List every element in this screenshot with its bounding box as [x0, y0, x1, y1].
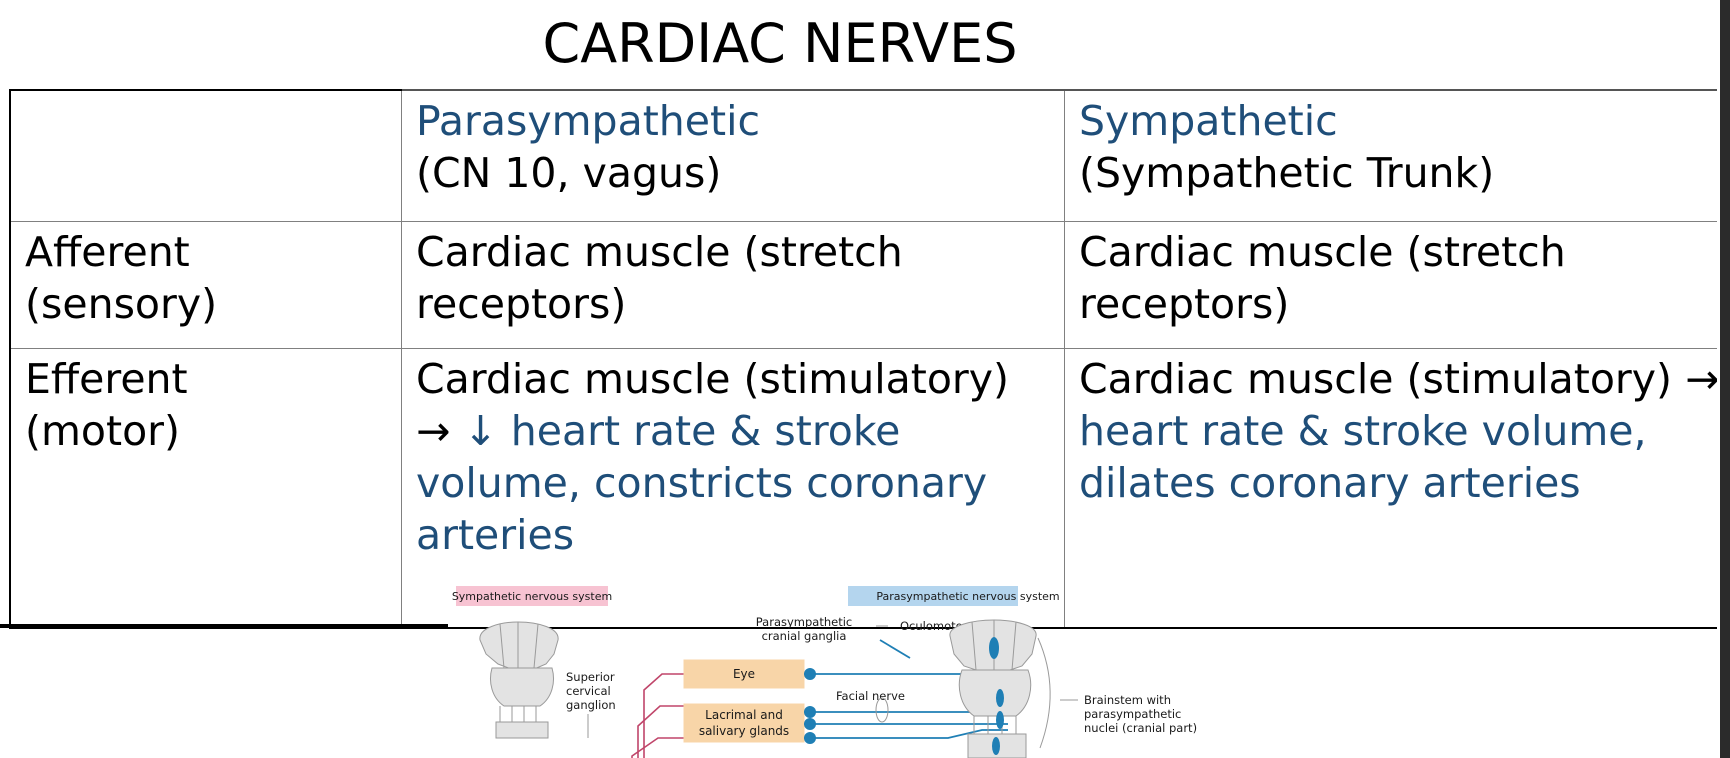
- bracket-brainstem: [1038, 638, 1050, 748]
- header-cell-parasympathetic: Parasympathetic (CN 10, vagus): [402, 90, 1065, 222]
- label-brainstem-line1: Brainstem with: [1084, 693, 1171, 707]
- label-superior-cervical-ganglion-line3: ganglion: [566, 698, 616, 712]
- header-cell-sympathetic: Sympathetic (Sympathetic Trunk): [1065, 90, 1730, 222]
- label-facial-nerve: Facial nerve: [836, 689, 905, 703]
- slide-edge-band: [1720, 0, 1730, 758]
- row-label-afferent: Afferent (sensory): [10, 222, 402, 349]
- cardiac-nerves-table: Parasympathetic (CN 10, vagus) Sympathet…: [9, 89, 1730, 629]
- efferent-para-blue-text: ↓ heart rate & stroke volume, constricts…: [416, 407, 987, 559]
- efferent-symp-black-text: Cardiac muscle (stimulatory): [1079, 355, 1685, 403]
- sympathetic-subheading: (Sympathetic Trunk): [1079, 147, 1730, 199]
- label-parasympathetic-cranial-ganglia-line2: cranial ganglia: [762, 629, 847, 643]
- right-arrow-icon: →: [1685, 355, 1719, 403]
- label-superior-cervical-ganglion-line2: cervical: [566, 684, 611, 698]
- label-parasympathetic-cranial-ganglia-line1: Parasympathetic: [756, 615, 853, 629]
- sympathetic-nerve-lines: [632, 674, 684, 758]
- legend-label-parasympathetic: Parasympathetic nervous system: [876, 590, 1059, 603]
- afferent-label-line1: Afferent: [25, 226, 391, 278]
- parasympathetic-ganglion-dots: [804, 668, 816, 744]
- header-cell-empty: [10, 90, 402, 222]
- sympathetic-heading: Sympathetic: [1079, 95, 1730, 147]
- afferent-label-line2: (sensory): [25, 278, 391, 330]
- autonomic-nervous-system-diagram: Sympathetic nervous system Parasympathet…: [448, 578, 1258, 758]
- organ-label-lacrimal-line2: salivary glands: [699, 724, 789, 738]
- row-label-efferent: Efferent (motor): [10, 349, 402, 629]
- sympathetic-brain-outline: [480, 622, 558, 738]
- right-arrow-icon: →: [416, 407, 450, 455]
- label-brainstem-line3: nuclei (cranial part): [1084, 721, 1197, 735]
- parasympathetic-subheading: (CN 10, vagus): [416, 147, 1054, 199]
- organ-label-eye: Eye: [733, 667, 755, 681]
- label-superior-cervical-ganglion-line1: Superior: [566, 670, 615, 684]
- efferent-para-black-text: Cardiac muscle (stimulatory): [416, 355, 1009, 403]
- cell-afferent-sympathetic: Cardiac muscle (stretch receptors): [1065, 222, 1730, 349]
- label-brainstem-line2: parasympathetic: [1084, 707, 1181, 721]
- efferent-label-line1: Efferent: [25, 353, 391, 405]
- page-title: CARDIAC NERVES: [0, 14, 1560, 74]
- slide-canvas: CARDIAC NERVES Parasympathetic (CN 10, v…: [0, 0, 1730, 758]
- table-header-row: Parasympathetic (CN 10, vagus) Sympathet…: [10, 90, 1730, 222]
- organ-boxes: Eye Lacrimal and salivary glands: [684, 660, 804, 742]
- efferent-label-line2: (motor): [25, 405, 391, 457]
- horizontal-divider-rule: [0, 624, 448, 628]
- organ-label-lacrimal-line1: Lacrimal and: [705, 708, 783, 722]
- table-row-afferent: Afferent (sensory) Cardiac muscle (stret…: [10, 222, 1730, 349]
- legend-label-sympathetic: Sympathetic nervous system: [452, 590, 612, 603]
- cell-afferent-parasympathetic: Cardiac muscle (stretch receptors): [402, 222, 1065, 349]
- parasympathetic-heading: Parasympathetic: [416, 95, 1054, 147]
